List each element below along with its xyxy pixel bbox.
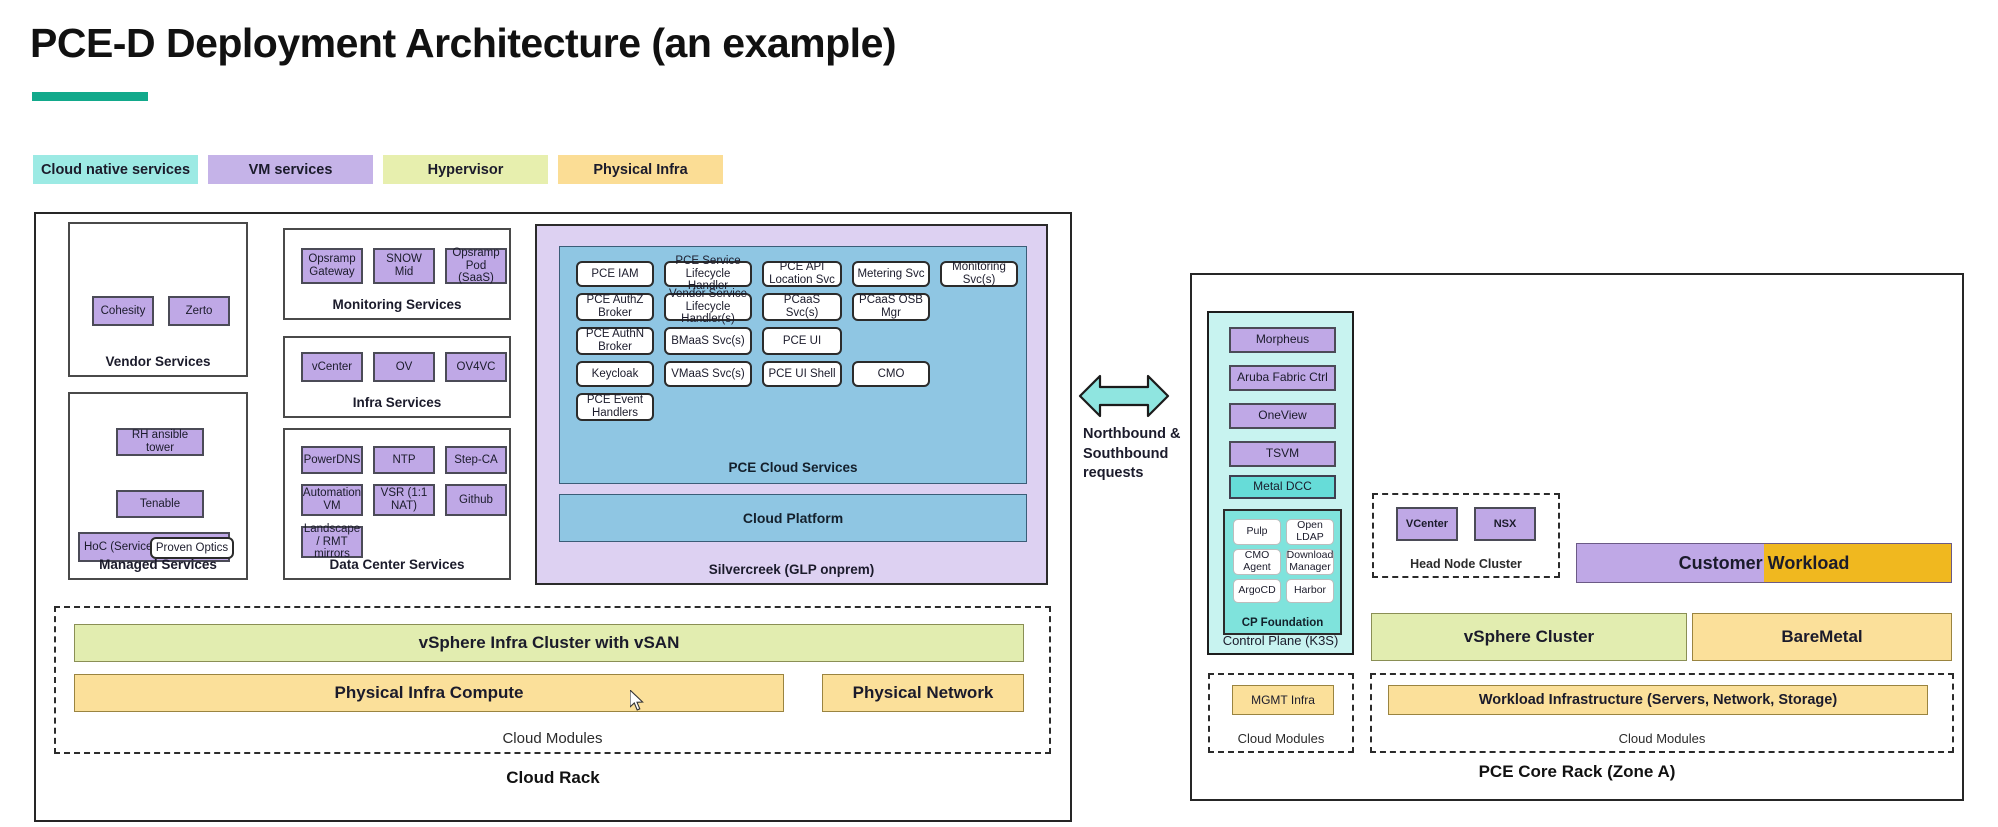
chip-ov4vc[interactable]: OV4VC <box>445 352 507 382</box>
chip-open-ldap[interactable]: Open LDAP <box>1286 519 1334 545</box>
chip-pce-service-lifecycle-handler[interactable]: PCE Service Lifecycle Handler <box>664 261 752 287</box>
group-data-center-services: PowerDNS NTP Step-CA Automation VM VSR (… <box>283 428 511 580</box>
chip-vendor-service-lifecycle-handlers[interactable]: Vendor Service Lifecycle Handler(s) <box>664 293 752 321</box>
chip-step-ca[interactable]: Step-CA <box>445 446 507 474</box>
chip-pcaas-osb-mgr[interactable]: PCaaS OSB Mgr <box>852 293 930 321</box>
chip-opsramp-pod-saas[interactable]: Opsramp Pod (SaaS) <box>445 248 507 284</box>
chip-rh-ansible-tower[interactable]: RH ansible tower <box>116 428 204 456</box>
chip-cohesity[interactable]: Cohesity <box>92 296 154 326</box>
chip-tsvm[interactable]: TSVM <box>1229 441 1336 467</box>
chip-pulp[interactable]: Pulp <box>1233 519 1281 545</box>
label-cloud-modules-left: Cloud Modules <box>56 730 1049 747</box>
chip-pce-ui[interactable]: PCE UI <box>762 327 842 355</box>
label-cloud-modules-core-left: Cloud Modules <box>1210 731 1352 746</box>
group-label-monitoring-services: Monitoring Services <box>285 297 509 312</box>
group-cp-foundation: Pulp Open LDAP CMO Agent Download Manage… <box>1223 509 1342 635</box>
cloud-modules-core-right: Workload Infrastructure (Servers, Networ… <box>1370 673 1954 753</box>
chip-pce-authz-broker[interactable]: PCE AuthZ Broker <box>576 293 654 321</box>
chip-morpheus[interactable]: Morpheus <box>1229 327 1336 353</box>
chip-monitoring-svcs[interactable]: Monitoring Svc(s) <box>940 261 1018 287</box>
group-monitoring-services: Opsramp Gateway SNOW Mid Opsramp Pod (Sa… <box>283 228 511 320</box>
chip-keycloak[interactable]: Keycloak <box>576 361 654 387</box>
bar-customer-workload: Customer Workload <box>1576 543 1952 583</box>
chip-oneview[interactable]: OneView <box>1229 403 1336 429</box>
chip-vsr-nat[interactable]: VSR (1:1 NAT) <box>373 484 435 516</box>
chip-landscape-rmt-mirrors[interactable]: Landscape / RMT mirrors <box>301 526 363 558</box>
chip-automation-vm[interactable]: Automation VM <box>301 484 363 516</box>
label-cloud-modules-core-right: Cloud Modules <box>1372 731 1952 746</box>
chip-pce-event-handlers[interactable]: PCE Event Handlers <box>576 393 654 421</box>
chip-github[interactable]: Github <box>445 484 507 516</box>
chip-pcaas-svcs[interactable]: PCaaS Svc(s) <box>762 293 842 321</box>
bar-workload-infrastructure: Workload Infrastructure (Servers, Networ… <box>1388 685 1928 715</box>
mouse-cursor-icon <box>630 690 646 712</box>
chip-cmo-agent[interactable]: CMO Agent <box>1233 549 1281 575</box>
chip-harbor[interactable]: Harbor <box>1286 579 1334 603</box>
chip-metal-dcc[interactable]: Metal DCC <box>1229 475 1336 499</box>
chip-download-manager[interactable]: Download Manager <box>1286 549 1334 575</box>
chip-snow-mid[interactable]: SNOW Mid <box>373 248 435 284</box>
group-control-plane-k3s: Morpheus Aruba Fabric Ctrl OneView TSVM … <box>1207 311 1354 655</box>
chip-vmaas-svcs[interactable]: VMaaS Svc(s) <box>664 361 752 387</box>
bar-vsphere-cluster: vSphere Cluster <box>1371 613 1687 661</box>
legend-item-hypervisor: Hypervisor <box>383 155 548 184</box>
legend-item-physical-infra: Physical Infra <box>558 155 723 184</box>
chip-pce-ui-shell[interactable]: PCE UI Shell <box>762 361 842 387</box>
chip-ntp[interactable]: NTP <box>373 446 435 474</box>
label-customer-workload: Customer Workload <box>1577 544 1951 582</box>
chip-vcenter-head-node[interactable]: VCenter <box>1396 507 1458 541</box>
group-label-vendor-services: Vendor Services <box>70 354 246 369</box>
chip-tenable[interactable]: Tenable <box>116 490 204 518</box>
chip-argocd[interactable]: ArgoCD <box>1233 579 1281 603</box>
bar-vsphere-infra-cluster-vsan: vSphere Infra Cluster with vSAN <box>74 624 1024 662</box>
chip-nsx[interactable]: NSX <box>1474 507 1536 541</box>
legend: Cloud native services VM services Hyperv… <box>33 155 723 184</box>
chip-ov[interactable]: OV <box>373 352 435 382</box>
group-pce-cloud-services: PCE IAM PCE Service Lifecycle Handler PC… <box>559 246 1027 484</box>
legend-item-cloud-native: Cloud native services <box>33 155 198 184</box>
label-head-node-cluster: Head Node Cluster <box>1374 557 1558 571</box>
chip-zerto[interactable]: Zerto <box>168 296 230 326</box>
chip-vcenter[interactable]: vCenter <box>301 352 363 382</box>
group-managed-services: RH ansible tower Tenable HoC (ServiceNow… <box>68 392 248 580</box>
chip-metering-svc[interactable]: Metering Svc <box>852 261 930 287</box>
double-arrow-icon <box>1078 370 1170 422</box>
diagram-canvas: PCE-D Deployment Architecture (an exampl… <box>0 0 1998 827</box>
label-northbound-southbound: Northbound & Southbound requests <box>1083 425 1193 484</box>
chip-powerdns[interactable]: PowerDNS <box>301 446 363 474</box>
chip-pce-iam[interactable]: PCE IAM <box>576 261 654 287</box>
cloud-modules-left: vSphere Infra Cluster with vSAN Physical… <box>54 606 1051 754</box>
chip-opsramp-gateway[interactable]: Opsramp Gateway <box>301 248 363 284</box>
bar-physical-network: Physical Network <box>822 674 1024 712</box>
chip-cmo[interactable]: CMO <box>852 361 930 387</box>
group-label-managed-services: Managed Services <box>70 557 246 572</box>
label-pce-core-rack: PCE Core Rack (Zone A) <box>1190 762 1964 782</box>
group-infra-services: vCenter OV OV4VC Infra Services <box>283 336 511 418</box>
legend-item-vm-services: VM services <box>208 155 373 184</box>
chip-bmaas-svcs[interactable]: BMaaS Svc(s) <box>664 327 752 355</box>
block-cloud-platform: Cloud Platform <box>559 494 1027 542</box>
label-control-plane-k3s: Control Plane (K3S) <box>1209 633 1352 648</box>
cloud-modules-core-left: MGMT Infra Cloud Modules <box>1208 673 1354 753</box>
northbound-southbound-connector <box>1078 370 1170 427</box>
chip-aruba-fabric-ctrl[interactable]: Aruba Fabric Ctrl <box>1229 365 1336 391</box>
bar-physical-infra-compute: Physical Infra Compute <box>74 674 784 712</box>
group-head-node-cluster: VCenter NSX Head Node Cluster <box>1372 493 1560 578</box>
group-vendor-services: Cohesity Zerto Vendor Services <box>68 222 248 377</box>
page-title: PCE-D Deployment Architecture (an exampl… <box>30 20 896 67</box>
chip-proven-optics[interactable]: Proven Optics <box>150 537 234 559</box>
label-cloud-rack: Cloud Rack <box>34 768 1072 788</box>
bar-mgmt-infra: MGMT Infra <box>1232 685 1334 715</box>
label-silvercreek: Silvercreek (GLP onprem) <box>537 562 1046 577</box>
group-label-data-center-services: Data Center Services <box>285 557 509 572</box>
group-label-infra-services: Infra Services <box>285 395 509 410</box>
label-pce-cloud-services: PCE Cloud Services <box>560 460 1026 475</box>
chip-pce-authn-broker[interactable]: PCE AuthN Broker <box>576 327 654 355</box>
chip-pce-api-location-svc[interactable]: PCE API Location Svc <box>762 261 842 287</box>
group-silvercreek: PCE IAM PCE Service Lifecycle Handler PC… <box>535 224 1048 585</box>
title-underline-accent <box>32 92 148 101</box>
label-cp-foundation: CP Foundation <box>1225 617 1340 629</box>
bar-baremetal: BareMetal <box>1692 613 1952 661</box>
